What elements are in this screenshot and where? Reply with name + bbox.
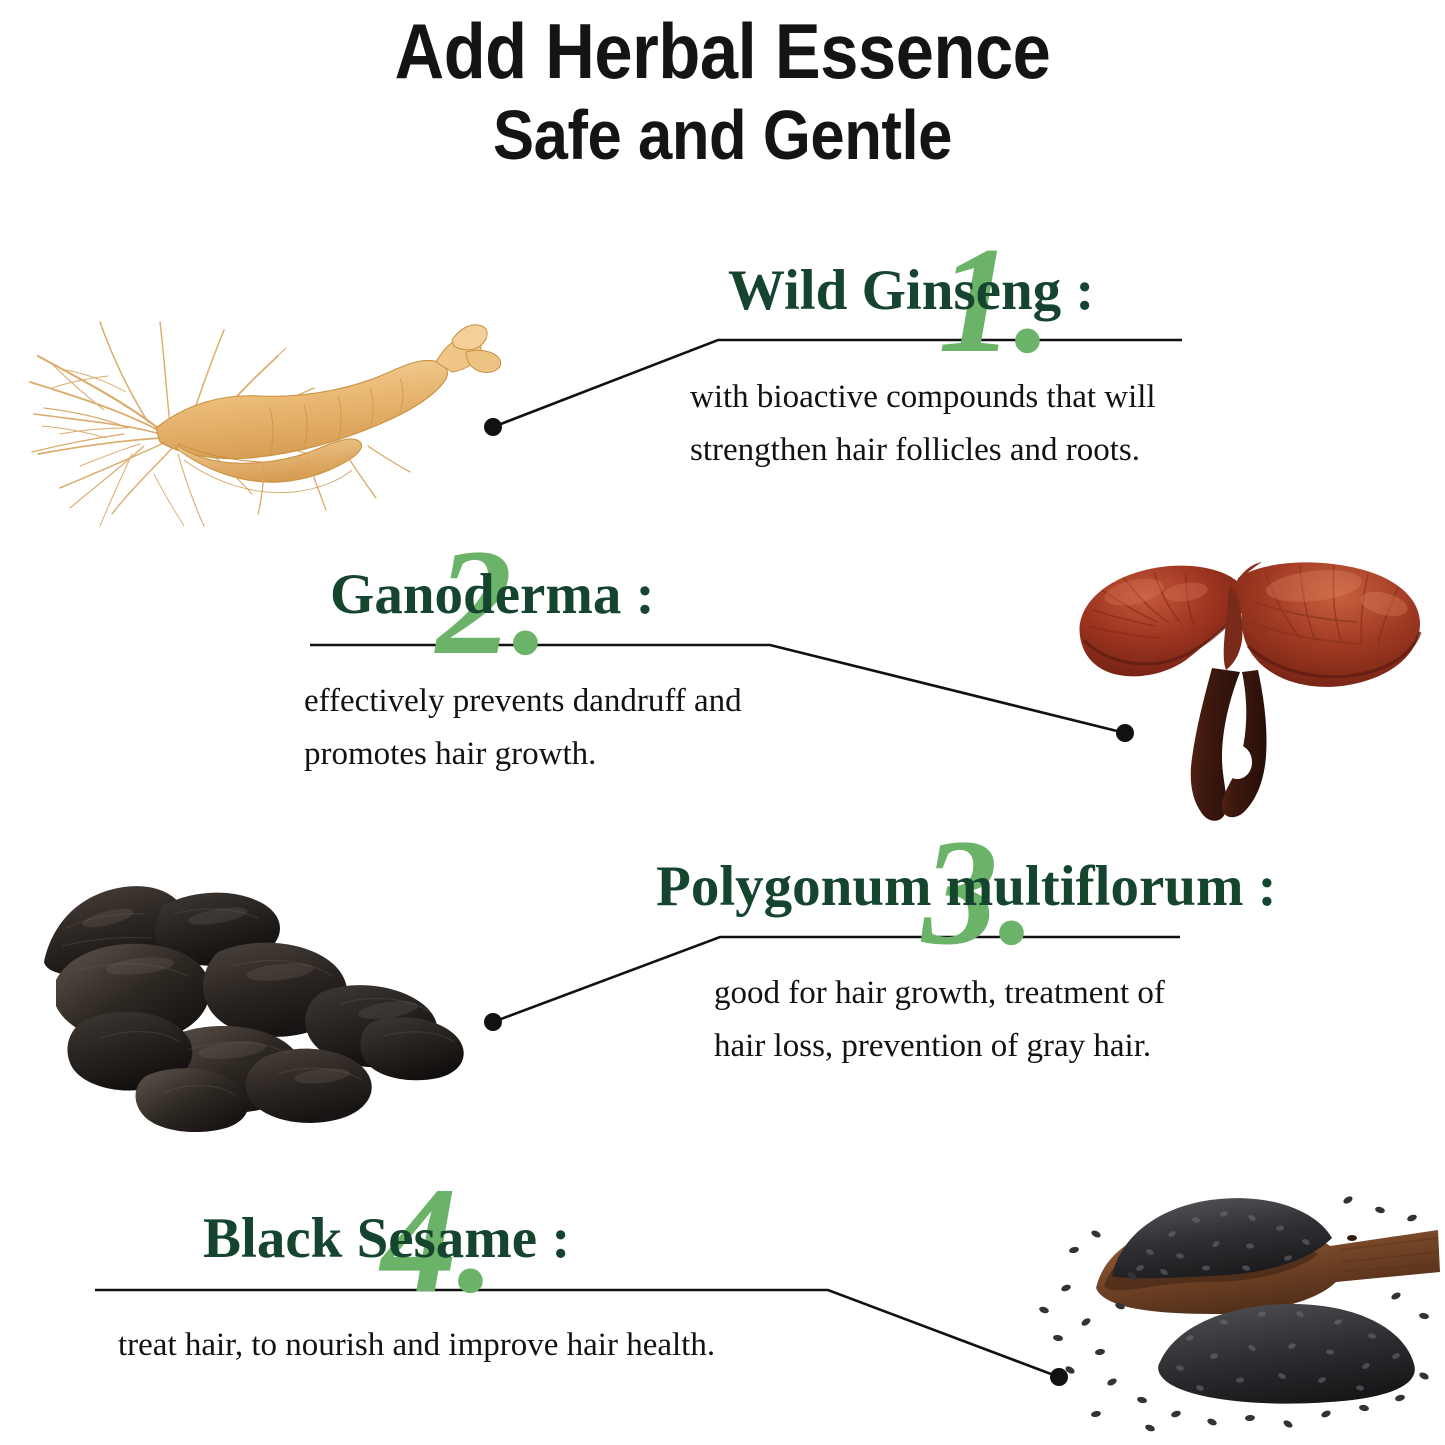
- section-heading-1: Wild Ginseng :: [728, 262, 1156, 319]
- polygonum-multiflorum-slices-photo: [22, 862, 502, 1132]
- section-heading-4: Black Sesame :: [203, 1210, 715, 1267]
- section-ganoderma: 2. Ganoderma : effectively prevents dand…: [330, 566, 742, 782]
- section-body-1: with bioactive compounds that will stren…: [690, 371, 1156, 478]
- section-heading-2: Ganoderma :: [330, 566, 742, 623]
- section-body-3: good for hair growth, treatment of hair …: [714, 967, 1277, 1074]
- ganoderma-reishi-mushroom-photo: [1062, 548, 1432, 828]
- section-body-3-line-1: good for hair growth, treatment of: [714, 967, 1277, 1020]
- section-wild-ginseng: 1. Wild Ginseng : with bioactive compoun…: [728, 262, 1156, 478]
- title-line-primary: Add Herbal Essence: [87, 12, 1359, 90]
- section-body-1-line-2: strengthen hair follicles and roots.: [690, 424, 1156, 477]
- section-body-3-line-2: hair loss, prevention of gray hair.: [714, 1020, 1277, 1073]
- section-heading-3: Polygonum multiflorum :: [656, 858, 1277, 915]
- section-body-4: treat hair, to nourish and improve hair …: [118, 1319, 715, 1372]
- black-sesame-seeds-with-wooden-spoon-photo: [1000, 1176, 1440, 1441]
- infographic-canvas: Add Herbal Essence Safe and Gentle: [0, 0, 1445, 1445]
- wild-ginseng-root-photo: [8, 278, 508, 528]
- section-black-sesame: 4. Black Sesame : treat hair, to nourish…: [203, 1210, 715, 1372]
- section-body-2: effectively prevents dandruff and promot…: [304, 675, 742, 782]
- section-polygonum-multiflorum: 3. Polygonum multiflorum : good for hair…: [656, 858, 1277, 1074]
- title-line-secondary: Safe and Gentle: [87, 100, 1359, 170]
- section-body-1-line-1: with bioactive compounds that will: [690, 371, 1156, 424]
- section-body-2-line-2: promotes hair growth.: [304, 728, 742, 781]
- section-body-4-line-1: treat hair, to nourish and improve hair …: [118, 1319, 715, 1372]
- page-title: Add Herbal Essence Safe and Gentle: [0, 12, 1445, 170]
- section-body-2-line-1: effectively prevents dandruff and: [304, 675, 742, 728]
